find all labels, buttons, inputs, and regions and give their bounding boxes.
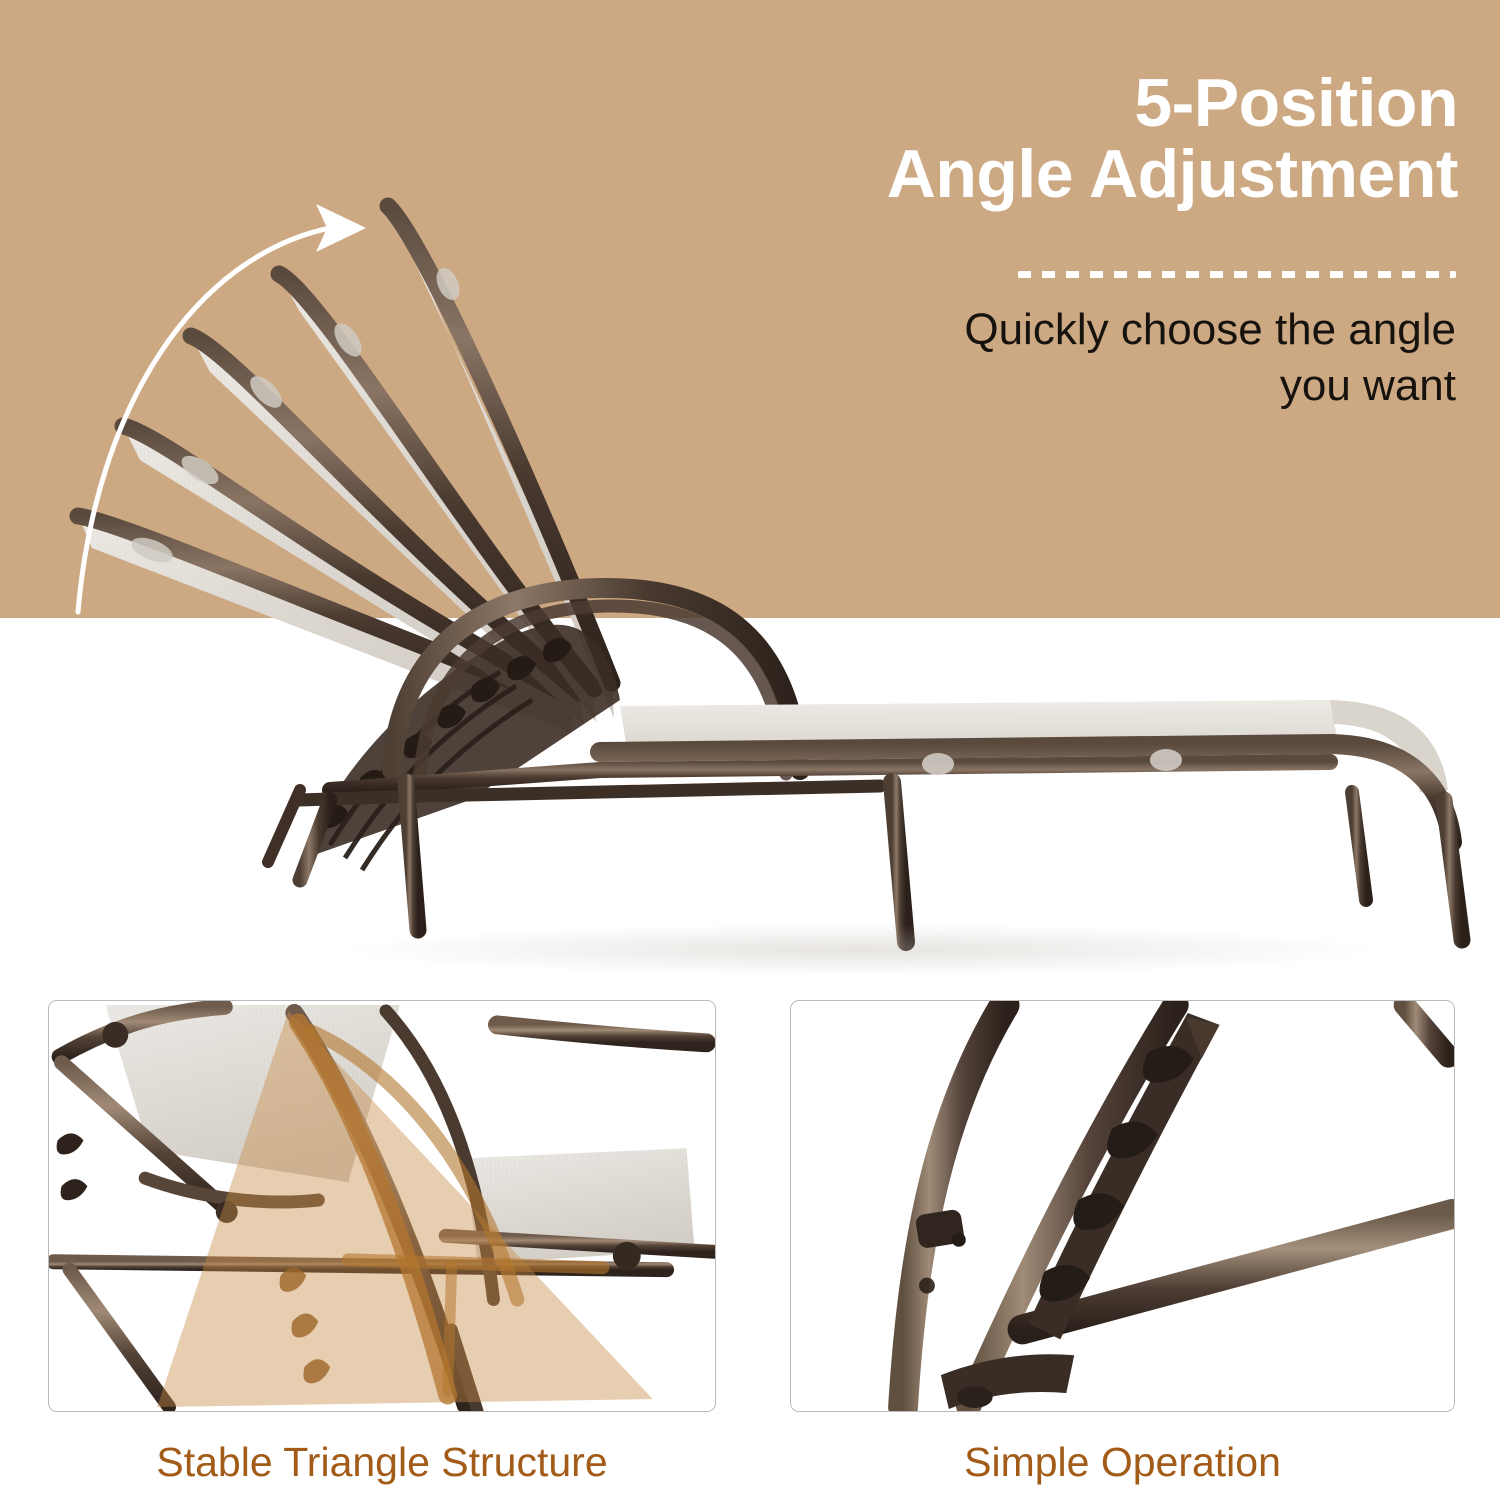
product-feature-graphic: 5-Position Angle Adjustment Quickly choo…	[0, 0, 1500, 1499]
page-title: 5-Position Angle Adjustment	[758, 68, 1458, 209]
dashed-divider	[1018, 271, 1456, 278]
detail-photo-simple-operation	[790, 1000, 1455, 1412]
caption-stable-triangle: Stable Triangle Structure	[48, 1432, 716, 1492]
detail-photo-stable-triangle	[48, 1000, 716, 1412]
subtitle-line-1: Quickly choose the angle	[766, 302, 1456, 358]
title-line-1: 5-Position	[758, 68, 1458, 139]
caption-simple-operation: Simple Operation	[790, 1432, 1455, 1492]
page-subtitle: Quickly choose the angle you want	[766, 302, 1456, 415]
subtitle-line-2: you want	[766, 358, 1456, 414]
floor-shadow	[340, 924, 1380, 976]
title-line-2: Angle Adjustment	[758, 139, 1458, 210]
